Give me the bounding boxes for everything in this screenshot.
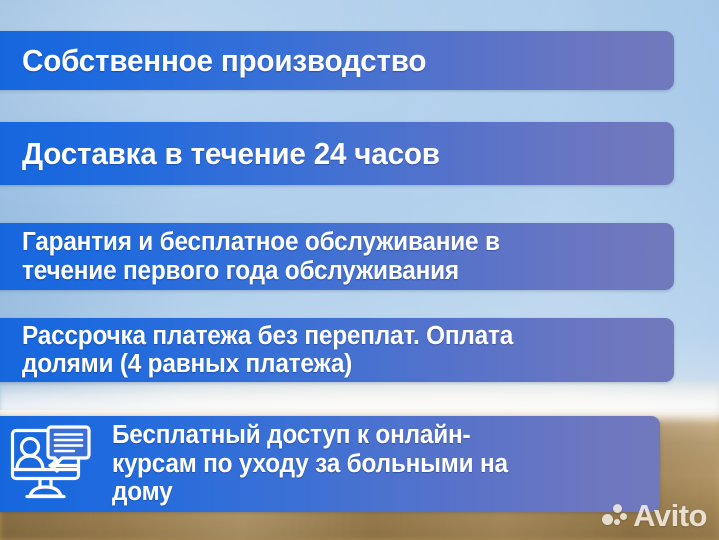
feature-banner-free-online-courses: Бесплатный доступ к онлайн- курсам по ух…: [0, 416, 660, 512]
feature-banner-label: Гарантия и бесплатное обслуживание в теч…: [22, 228, 500, 284]
feature-banner-warranty-free-service: Гарантия и бесплатное обслуживание в теч…: [0, 223, 674, 290]
avito-dots-logo-icon: [602, 503, 627, 528]
feature-banner-installment-payment: Рассрочка платежа без переплат. Оплата д…: [0, 318, 674, 382]
listing-image: Собственное производство Доставка в тече…: [0, 0, 719, 540]
feature-banner-label: Собственное производство: [22, 45, 426, 77]
monitor-person-document-icon: [8, 425, 94, 503]
avito-watermark: Avito: [602, 500, 707, 531]
avito-wordmark: Avito: [633, 500, 707, 531]
feature-banner-label: Бесплатный доступ к онлайн- курсам по ух…: [112, 421, 508, 507]
feature-banner-label: Рассрочка платежа без переплат. Оплата д…: [22, 322, 513, 378]
feature-banner-delivery-24h: Доставка в течение 24 часов: [0, 122, 674, 185]
feature-banner-label: Доставка в течение 24 часов: [22, 138, 440, 170]
feature-banner-own-production: Собственное производство: [0, 31, 674, 90]
